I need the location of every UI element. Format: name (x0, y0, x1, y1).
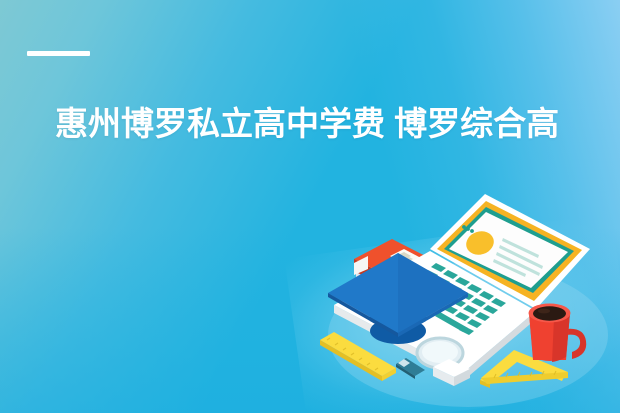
decorative-rule (27, 51, 90, 56)
coffee-liquid (533, 306, 566, 320)
education-illustration (318, 185, 618, 410)
browser-dot-2 (466, 227, 470, 231)
banner-image: 惠州博罗私立高中学费 博罗综合高 (0, 0, 620, 413)
browser-dot-3 (470, 229, 474, 233)
banner-title: 惠州博罗私立高中学费 博罗综合高 (55, 103, 620, 145)
coffee-highlight (538, 309, 550, 314)
browser-dot-1 (462, 225, 466, 229)
magnifier-lens (422, 341, 458, 363)
